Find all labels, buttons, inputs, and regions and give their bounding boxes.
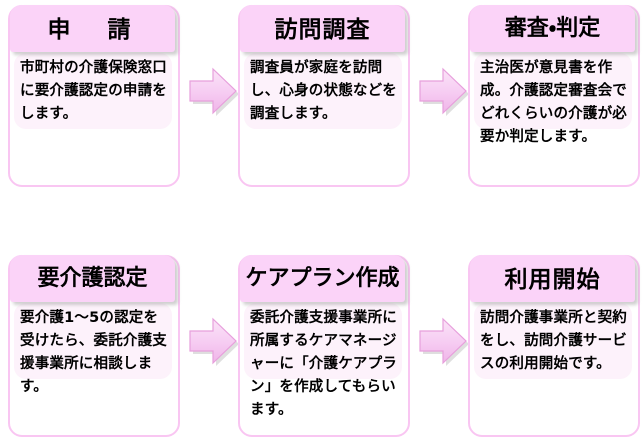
step-body-text: 調査員が家庭を訪問し、心身の状態などを調査します。: [250, 57, 402, 126]
step-body-text: 委託介護支援事業所に所属するケアマネージャーに「介護ケアプラン」を作成してもらい…: [250, 307, 402, 422]
step-title: 訪問調査: [240, 10, 405, 44]
step-header: 審査・判定: [470, 5, 635, 52]
step-title: 要介護認定: [10, 260, 175, 292]
step-title: 審査・判定: [470, 10, 635, 42]
step-card-care-plan[interactable]: ケアプラン作成 委託介護支援事業所に所属するケアマネージャーに「介護ケアプラン」…: [238, 255, 410, 437]
step-body-text: 要介護1〜5の認定を受けたら、委託介護支援事業所に相談します。: [20, 307, 172, 399]
flow-row-top: 申 請 市町村の介護保険窓口に要介護認定の申請をします。: [0, 2, 643, 192]
flow-row-bottom: 要介護認定 要介護1〜5の認定を受けたら、委託介護支援事業所に相談します。 ケア…: [0, 252, 643, 442]
step-card-yokaigo-nintei[interactable]: 要介護認定 要介護1〜5の認定を受けたら、委託介護支援事業所に相談します。: [8, 255, 180, 437]
step-body-text: 市町村の介護保険窓口に要介護認定の申請をします。: [20, 57, 172, 126]
step-body-text: 主治医が意見書を作成。介護認定審査会でどれくらいの介護が必要か判定します。: [480, 57, 632, 149]
step-title: 利用開始: [470, 260, 635, 294]
step-header: 申 請: [10, 5, 175, 52]
step-body-text: 訪問介護事業所と契約をし、訪問介護サービスの利用開始です。: [480, 307, 632, 376]
arrow-2-icon: [418, 63, 470, 121]
arrow-3-icon: [188, 313, 240, 371]
step-header: 要介護認定: [10, 255, 175, 302]
arrow-1-icon: [188, 63, 240, 121]
step-header: 訪問調査: [240, 5, 405, 52]
step-header: 利用開始: [470, 255, 635, 302]
step-card-shinsei[interactable]: 申 請 市町村の介護保険窓口に要介護認定の申請をします。: [8, 5, 180, 187]
arrow-4-icon: [418, 313, 470, 371]
step-card-riyo-kaishi[interactable]: 利用開始 訪問介護事業所と契約をし、訪問介護サービスの利用開始です。: [468, 255, 640, 437]
step-card-shinsa-hantei[interactable]: 審査・判定 主治医が意見書を作成。介護認定審査会でどれくらいの介護が必要か判定し…: [468, 5, 640, 187]
step-card-homon-chosa[interactable]: 訪問調査 調査員が家庭を訪問し、心身の状態などを調査します。: [238, 5, 410, 187]
flowchart-canvas: 申 請 市町村の介護保険窓口に要介護認定の申請をします。: [0, 0, 643, 442]
step-title: 申 請: [10, 10, 175, 44]
step-title: ケアプラン作成: [240, 260, 405, 292]
step-header: ケアプラン作成: [240, 255, 405, 302]
